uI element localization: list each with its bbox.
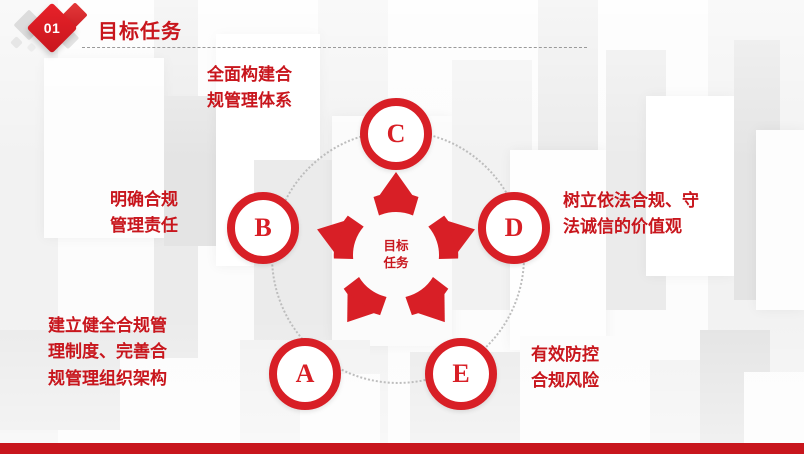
decor-diamond-icon [10,36,23,49]
callout-text-c: 全面构建合 规管理体系 [207,62,292,115]
slide-header: 01 目标任务 [0,0,804,60]
slide-canvas: 01 目标任务 [0,0,804,454]
center-label: 目标 任务 [311,170,481,340]
badge-number: 01 [34,10,70,46]
diagram-node-b[interactable]: B [227,192,299,264]
callout-text-b: 明确合规 管理责任 [110,187,178,240]
header-divider [82,47,587,48]
diagram-node-c[interactable]: C [360,98,432,170]
diagram-node-d[interactable]: D [478,192,550,264]
callout-text-a: 建立健全合规管 理制度、完善合 规管理组织架构 [48,313,167,392]
callout-text-d: 树立依法合规、守 法诚信的价值观 [563,188,699,241]
footer-accent-bar [0,443,804,454]
diagram-node-e[interactable]: E [425,338,497,410]
center-hub: 目标 任务 [311,170,481,340]
callout-text-e: 有效防控 合规风险 [531,342,599,395]
target-task-diagram: 目标 任务 C B D A E [226,85,566,425]
center-label-line1: 目标 [383,238,408,255]
page-title: 目标任务 [98,15,182,44]
center-label-line2: 任务 [383,255,408,272]
section-number-badge: 01 [8,4,98,56]
diagram-node-a[interactable]: A [269,338,341,410]
